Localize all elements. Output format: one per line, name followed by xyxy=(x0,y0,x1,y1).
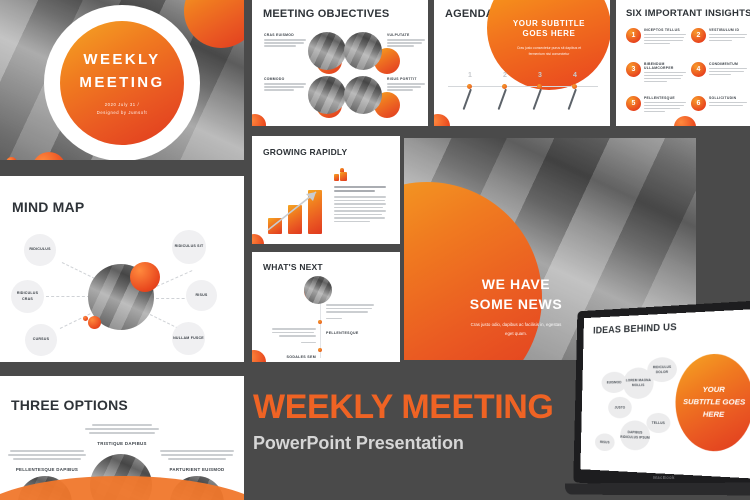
objective-body-line xyxy=(264,89,294,91)
insight-body-line xyxy=(644,75,683,77)
chart-trend-arrow xyxy=(266,184,326,234)
objective-body-line xyxy=(264,86,304,88)
slide-six-insights[interactable]: SIX IMPORTANT INSIGHTS 1 INCEPTOS TELLUS… xyxy=(616,0,750,126)
insight-body-line xyxy=(644,72,686,74)
slide-whats-next[interactable]: WHAT'S NEXT PELLENTESQUE SODALES SEM xyxy=(252,252,400,362)
whatsnext-body-line xyxy=(272,328,316,330)
objective-body-line xyxy=(387,39,425,41)
insight-body-line xyxy=(644,40,683,42)
news-title-line2: SOME NEWS xyxy=(446,294,586,314)
growing-ball xyxy=(252,234,264,244)
hero-title-line2: MEETING xyxy=(79,72,164,95)
whatsnext-body-line xyxy=(326,311,368,313)
agenda-step-stick-4 xyxy=(568,89,577,110)
laptop-slide-title: IDEAS BEHIND US xyxy=(593,323,677,336)
insight-number-1: 1 xyxy=(626,28,641,43)
whatsnext-body-line xyxy=(272,332,314,334)
insight-body-line xyxy=(709,102,747,104)
agenda-title: AGENDA xyxy=(445,9,494,20)
news-subtitle-line2: eget quam. xyxy=(446,330,586,338)
growing-body-line xyxy=(334,214,382,216)
objective-body-line xyxy=(264,42,304,44)
whatsnext-label-1: PELLENTESQUE xyxy=(326,331,359,335)
whatsnext-node-2 xyxy=(318,348,322,352)
objective-body-line xyxy=(387,89,413,91)
news-title-line1: WE HAVE xyxy=(446,274,586,294)
insight-label-3: BIBENDUM ULLAMCORPER xyxy=(644,62,686,70)
hero-title-disc: WEEKLY MEETING 2020 July 31 / Designed b… xyxy=(60,21,184,145)
growing-body-line xyxy=(334,203,386,205)
insight-body-line xyxy=(709,40,732,42)
three-body-line xyxy=(89,432,155,434)
three-body-line xyxy=(160,450,235,452)
whatsnext-title: WHAT'S NEXT xyxy=(263,263,323,272)
agenda-ball xyxy=(434,114,450,126)
insight-label-4: CONDIMENTUM xyxy=(709,62,747,66)
insight-body-line xyxy=(644,43,670,45)
slide-meeting-objectives[interactable]: MEETING OBJECTIVES CRAS EUISMOD VULPUTAT… xyxy=(252,0,428,126)
laptop-screen: IDEAS BEHIND US YOUR SUBTITLE GOES HERE … xyxy=(580,309,750,479)
laptop-oval-line1: YOUR xyxy=(703,384,725,396)
insight-body-line xyxy=(709,105,743,107)
insight-item-1[interactable]: 1 INCEPTOS TELLUS xyxy=(626,28,686,44)
three-body-line xyxy=(92,424,153,426)
three-body-line xyxy=(8,454,85,456)
growing-body-line xyxy=(334,196,386,198)
insight-label-2: VESTIBULUM ID xyxy=(709,28,747,32)
agenda-step-number-1: 1 xyxy=(468,72,472,79)
objective-body-line xyxy=(387,83,425,85)
insight-item-5[interactable]: 5 PELLENTESQUE xyxy=(626,96,686,112)
caption-subtitle: PowerPoint Presentation xyxy=(253,433,553,454)
insight-body-line xyxy=(709,74,731,76)
insight-item-6[interactable]: 6 SOLLICITUDIN xyxy=(691,96,747,111)
mindmap-ball-tiny xyxy=(83,316,88,321)
whatsnext-label-2: SODALES SEM xyxy=(287,355,316,359)
objective-body-line xyxy=(387,42,422,44)
insight-body-line xyxy=(644,102,686,104)
whatsnext-caption-line xyxy=(326,318,342,319)
caption-title: WEEKLY MEETING xyxy=(253,390,553,424)
three-body-line xyxy=(161,454,233,456)
objective-label-2: VULPUTATE xyxy=(387,33,425,37)
insight-number-5: 5 xyxy=(626,96,641,111)
whatsnext-caption-line xyxy=(301,342,316,343)
hero-subtitle-line1: 2020 July 31 / xyxy=(105,101,139,109)
six-title: SIX IMPORTANT INSIGHTS xyxy=(626,9,750,19)
three-option-2[interactable]: TRISTIQUE DAPIBUS xyxy=(83,424,161,446)
slide-agenda[interactable]: AGENDA YOUR SUBTITLE GOES HERE Cras just… xyxy=(434,0,610,126)
growing-thumb-icon xyxy=(334,168,347,181)
growing-body-line xyxy=(334,221,370,223)
agenda-corner-subtitle-line2: fermentum nisi consectetur xyxy=(529,51,570,57)
whatsnext-node-1 xyxy=(318,320,322,324)
laptop-oval-line2: SUBTITLE GOES xyxy=(683,396,745,409)
mindmap-title: MIND MAP xyxy=(12,200,84,214)
laptop-base xyxy=(565,483,750,496)
mindmap-node-5[interactable]: CURSUS xyxy=(25,324,57,356)
three-body-line xyxy=(85,428,160,430)
slide-hero-title[interactable]: WEEKLY MEETING 2020 July 31 / Designed b… xyxy=(0,0,244,160)
growing-body-line xyxy=(334,210,386,212)
whatsnext-entry-2[interactable]: SODALES SEM xyxy=(272,328,316,362)
insight-item-3[interactable]: 3 BIBENDUM ULLAMCORPER xyxy=(626,62,686,82)
whatsnext-body-line xyxy=(326,308,372,310)
hero-subtitle-line2: Designed by Jumsoft xyxy=(97,109,148,117)
insight-label-5: PELLENTESQUE xyxy=(644,96,686,100)
objective-label-4: RISUS PORTTIT xyxy=(387,77,425,81)
laptop-brand-label: MacBook xyxy=(575,475,750,480)
objective-photo-1 xyxy=(308,32,346,70)
mindmap-node-4[interactable]: RISUS xyxy=(186,280,217,311)
laptop-bubble-6[interactable]: DAPIBUS RIDICULUS IPSUM xyxy=(620,420,650,451)
insight-body-line xyxy=(709,34,747,36)
insight-label-6: SOLLICITUDIN xyxy=(709,96,747,100)
insight-body-line xyxy=(709,71,744,73)
whatsnext-body-line xyxy=(279,335,316,337)
mindmap-link xyxy=(46,296,90,297)
presentation-mockup-canvas: WEEKLY MEETING 2020 July 31 / Designed b… xyxy=(0,0,750,500)
slide-growing-rapidly[interactable]: GROWING RAPIDLY xyxy=(252,136,400,244)
insight-body-line xyxy=(709,37,745,39)
insight-number-3: 3 xyxy=(626,62,641,77)
slide-mind-map[interactable]: MIND MAP RIDICULUS RIDICULUS SIT RIDICUL… xyxy=(0,176,244,362)
insight-item-4[interactable]: 4 CONDIMENTUM xyxy=(691,62,747,77)
laptop-oval-line3: HERE xyxy=(703,408,725,421)
objective-photo-4 xyxy=(344,76,382,114)
growing-bar-chart xyxy=(268,188,326,234)
laptop-bubble-4[interactable]: JUSTO xyxy=(608,397,632,419)
mindmap-node-3[interactable]: RIDICULUS CRAS xyxy=(11,280,44,313)
three-body-line xyxy=(13,458,80,460)
six-ball xyxy=(674,116,696,126)
showcase-caption: WEEKLY MEETING PowerPoint Presentation xyxy=(253,390,553,454)
mindmap-ball-small xyxy=(88,316,101,329)
three-title: THREE OPTIONS xyxy=(11,398,128,412)
objective-body-line xyxy=(264,39,306,41)
objective-item-4[interactable]: RISUS PORTTIT xyxy=(344,76,426,116)
objectives-title: MEETING OBJECTIVES xyxy=(263,9,389,20)
growing-body-line xyxy=(334,200,385,202)
insight-item-2[interactable]: 2 VESTIBULUM ID xyxy=(691,28,747,43)
objective-item-1[interactable]: CRAS EUISMOD xyxy=(264,32,346,72)
laptop-bubble-7[interactable]: RISUS xyxy=(595,433,615,451)
agenda-corner-title-line1: YOUR SUBTITLE xyxy=(513,19,585,30)
laptop-bubble-3[interactable]: LOREM MAGNA MOLLIS xyxy=(623,367,654,399)
agenda-step-number-2: 2 xyxy=(503,72,507,79)
whatsnext-ball xyxy=(252,350,266,362)
news-text-block: WE HAVE SOME NEWS Cras justo odio, dapib… xyxy=(446,274,586,338)
insight-body-line xyxy=(644,108,680,110)
mindmap-center-blob xyxy=(130,262,160,292)
objective-item-3[interactable]: COMMODO xyxy=(264,76,346,116)
insight-label-1: INCEPTOS TELLUS xyxy=(644,28,686,32)
agenda-corner-title-line2: GOES HERE xyxy=(523,29,576,40)
mindmap-node-6[interactable]: NULLAM FUSCE xyxy=(172,322,205,355)
insight-number-4: 4 xyxy=(691,62,706,77)
hero-title-line1: WEEKLY xyxy=(83,49,160,72)
objective-photo-2 xyxy=(344,32,382,70)
agenda-step-number-4: 4 xyxy=(573,72,577,79)
objective-body-line xyxy=(264,83,306,85)
slide-three-options[interactable]: THREE OPTIONS PELLENTESQUE DAPIBUS TRIST… xyxy=(0,376,244,500)
objective-body-line xyxy=(264,45,296,47)
agenda-step-number-3: 3 xyxy=(538,72,542,79)
growing-body-heading-line xyxy=(334,190,375,192)
news-subtitle-line1: Cras justo odio, dapibus ac facilisis in… xyxy=(446,321,586,329)
objective-body-line xyxy=(387,86,421,88)
three-body-line xyxy=(168,458,226,460)
agenda-step-stick-2 xyxy=(498,89,507,110)
insight-body-line xyxy=(644,105,684,107)
growing-body-heading-line xyxy=(334,186,386,188)
insight-body-line xyxy=(644,78,681,80)
insight-number-2: 2 xyxy=(691,28,706,43)
objective-label-3: COMMODO xyxy=(264,77,306,81)
whatsnext-entry-1[interactable]: PELLENTESQUE xyxy=(326,304,374,339)
mindmap-node-1[interactable]: RIDICULUS xyxy=(24,234,56,266)
agenda-step-stick-3 xyxy=(533,89,542,110)
objective-photo-3 xyxy=(308,76,346,114)
insight-body-line xyxy=(644,34,686,36)
insight-number-6: 6 xyxy=(691,96,706,111)
three-orange-swoosh xyxy=(0,464,244,500)
growing-title: GROWING RAPIDLY xyxy=(263,148,347,157)
whatsnext-photo xyxy=(304,276,332,304)
three-label-2: TRISTIQUE DAPIBUS xyxy=(83,441,161,446)
agenda-step-stick-1 xyxy=(463,89,472,110)
growing-body-line xyxy=(334,217,385,219)
whatsnext-body-line xyxy=(326,304,374,306)
objective-label-1: CRAS EUISMOD xyxy=(264,33,306,37)
growing-body-line xyxy=(334,207,383,209)
insight-body-line xyxy=(644,37,684,39)
growing-body xyxy=(334,186,386,222)
three-body-line xyxy=(10,450,83,452)
insight-body-line xyxy=(709,68,747,70)
insight-body-line xyxy=(644,81,667,83)
objective-body-line xyxy=(387,45,414,47)
laptop-subtitle-oval: YOUR SUBTITLE GOES HERE xyxy=(675,353,750,453)
objective-item-2[interactable]: VULPUTATE xyxy=(344,32,426,72)
insight-body-line xyxy=(644,111,665,113)
laptop-mockup[interactable]: IDEAS BEHIND US YOUR SUBTITLE GOES HERE … xyxy=(566,305,750,500)
mindmap-node-2[interactable]: RIDICULUS SIT xyxy=(172,230,206,264)
